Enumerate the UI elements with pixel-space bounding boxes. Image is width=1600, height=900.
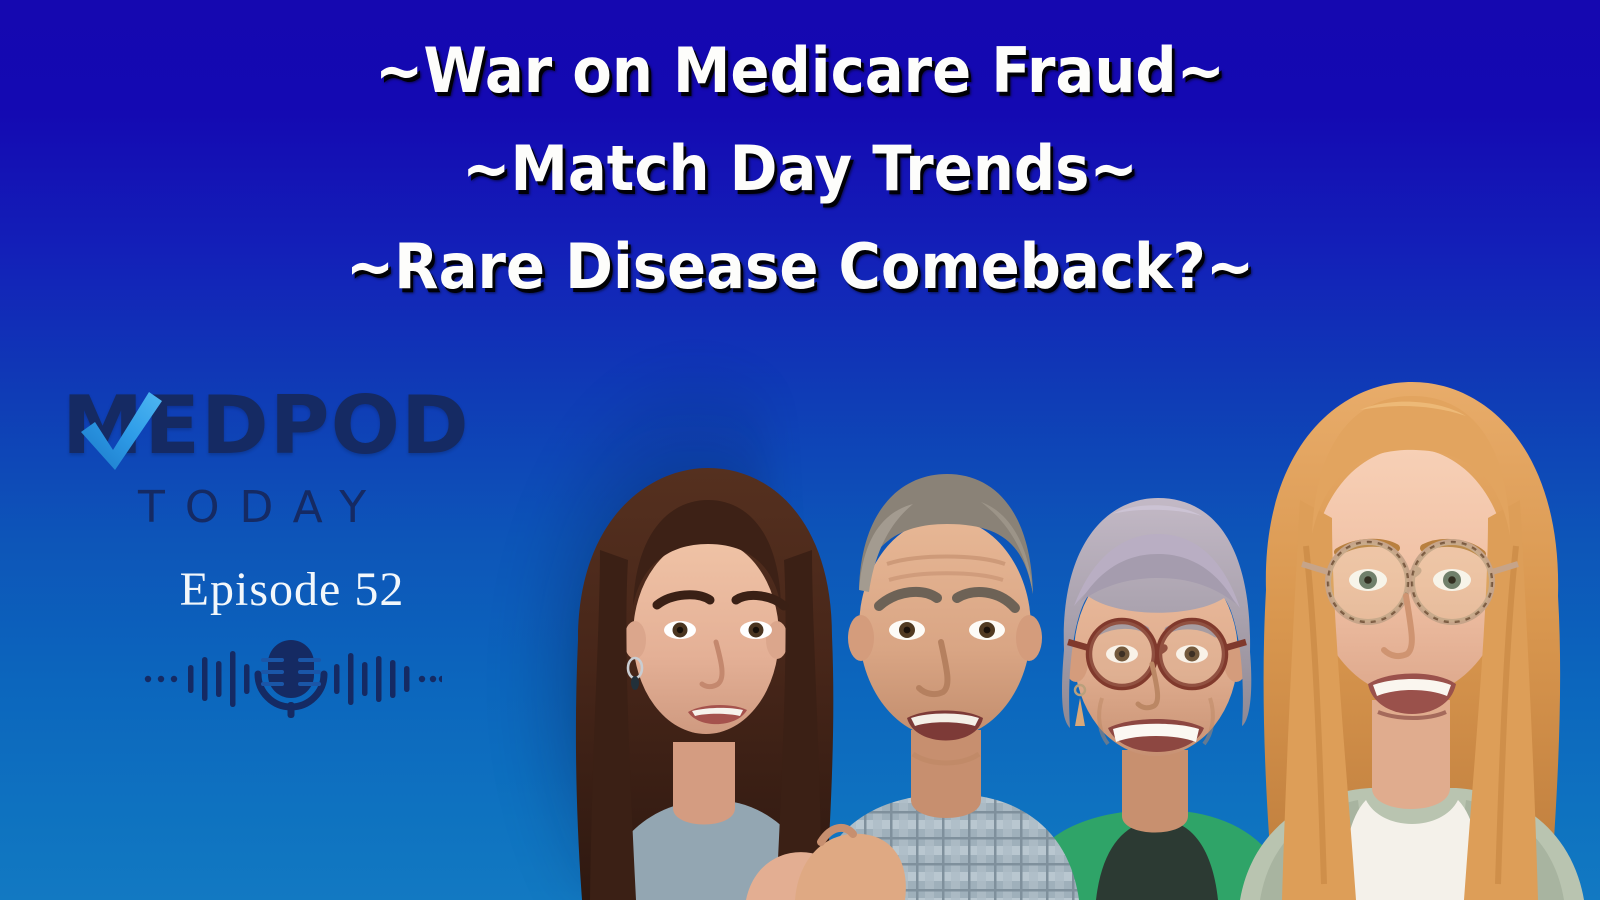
brand-logo-block: MEDPOD TODAY Episode 52 [52,388,532,718]
wordmark-label: MEDPOD [62,384,470,468]
title-line-2: ~Match Day Trends~ [56,120,1544,218]
episode-number-label: Episode 52 [82,562,502,618]
mic-waveform-svg [142,632,442,718]
title-line-3: ~Rare Disease Comeback?~ [56,218,1544,316]
episode-title-block: ~War on Medicare Fraud~ ~Match Day Trend… [0,22,1600,316]
panelist-4-portrait [1220,340,1600,900]
title-line-1: ~War on Medicare Fraud~ [56,22,1544,120]
podcast-thumbnail: ~War on Medicare Fraud~ ~Match Day Trend… [0,0,1600,900]
medpod-wordmark: MEDPOD [52,388,522,472]
today-tagline: TODAY [138,482,532,534]
panelist-2-portrait [795,430,1095,900]
microphone-waveform-icon [82,632,502,718]
